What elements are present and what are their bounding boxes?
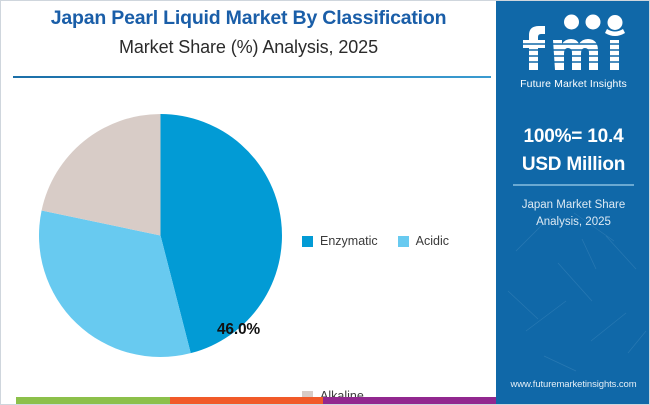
pie-chart: 46.0% <box>39 114 282 357</box>
brand-side-panel: Future Market Insights 100%= 10.4 USD Mi… <box>496 1 650 405</box>
legend-item-enzymatic[interactable]: Enzymatic <box>302 234 378 248</box>
legend-label-enzymatic: Enzymatic <box>320 234 378 248</box>
legend-row-top: Enzymatic Acidic <box>302 234 469 248</box>
fmi-logo: Future Market Insights <box>496 13 650 90</box>
legend-item-acidic[interactable]: Acidic <box>398 234 449 248</box>
pie-slice-label-enzymatic: 46.0% <box>217 321 260 339</box>
panel-caption-line1: Japan Market Share <box>496 197 650 214</box>
header: Japan Pearl Liquid Market By Classificat… <box>1 1 496 79</box>
strip-segment-purple <box>323 397 496 404</box>
header-divider <box>13 76 491 78</box>
panel-caption-line2: Analysis, 2025 <box>496 214 650 231</box>
fmi-logo-tagline: Future Market Insights <box>496 78 650 90</box>
chart-area: 46.0% Enzymatic Acidic Alkaline <box>1 79 496 389</box>
panel-website-url[interactable]: www.futuremarketinsights.com <box>496 379 650 390</box>
panel-divider <box>513 184 634 186</box>
panel-caption: Japan Market Share Analysis, 2025 <box>496 197 650 232</box>
bottom-color-strip <box>16 397 496 404</box>
panel-total-value-line2: USD Million <box>496 151 650 179</box>
infographic-card: Japan Pearl Liquid Market By Classificat… <box>0 0 650 405</box>
panel-total-value: 100%= 10.4 USD Million <box>496 123 650 178</box>
legend-swatch-icon-enzymatic <box>302 236 313 247</box>
legend-label-acidic: Acidic <box>416 234 449 248</box>
legend-swatch-icon-acidic <box>398 236 409 247</box>
fmi-wordmark-icon <box>515 13 633 75</box>
strip-segment-green <box>16 397 170 404</box>
panel-total-value-line1: 100%= 10.4 <box>496 123 650 151</box>
page-subtitle: Market Share (%) Analysis, 2025 <box>1 37 496 58</box>
page-title: Japan Pearl Liquid Market By Classificat… <box>1 7 496 30</box>
strip-segment-orange <box>170 397 324 404</box>
